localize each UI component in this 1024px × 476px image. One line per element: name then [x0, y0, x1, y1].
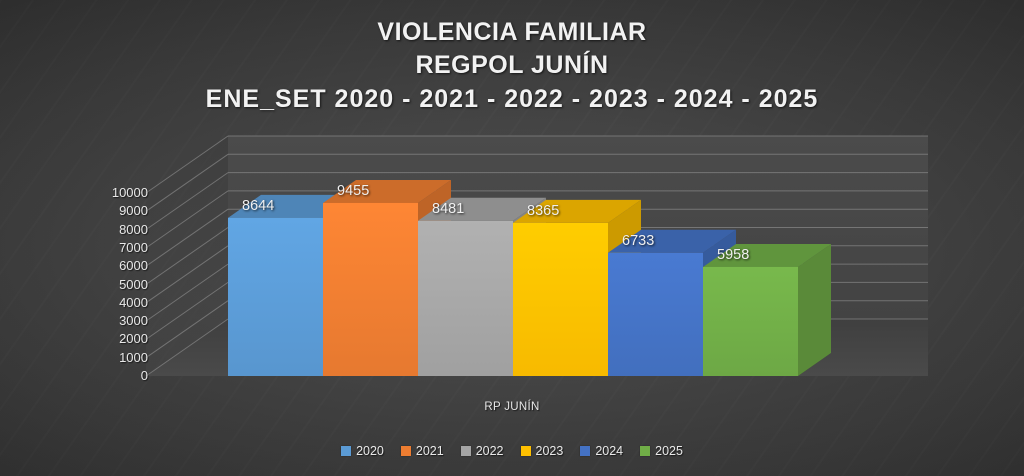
legend-swatch-icon	[580, 446, 590, 456]
y-axis-tick-label: 5000	[38, 277, 148, 292]
legend-item-2020[interactable]: 2020	[341, 444, 384, 458]
legend-item-2022[interactable]: 2022	[461, 444, 504, 458]
legend-swatch-icon	[401, 446, 411, 456]
bar-value-label: 8365	[527, 203, 559, 219]
bar-value-label: 8644	[242, 198, 274, 214]
legend-item-2024[interactable]: 2024	[580, 444, 623, 458]
legend-label: 2023	[536, 444, 564, 458]
y-axis-tick-label: 3000	[38, 313, 148, 328]
bar-value-label: 6733	[622, 233, 654, 249]
legend-label: 2025	[655, 444, 683, 458]
y-axis-tick-label: 4000	[38, 295, 148, 310]
bar-value-label: 5958	[717, 247, 749, 263]
y-axis-tick-label: 1000	[38, 350, 148, 365]
y-axis-tick-label: 9000	[38, 203, 148, 218]
legend-label: 2020	[356, 444, 384, 458]
bar-value-label: 9455	[337, 183, 369, 199]
legend-item-2021[interactable]: 2021	[401, 444, 444, 458]
bar-value-label: 8481	[432, 201, 464, 217]
y-axis-tick-label: 2000	[38, 331, 148, 346]
y-axis-tick-label: 8000	[38, 222, 148, 237]
legend-swatch-icon	[521, 446, 531, 456]
legend-label: 2022	[476, 444, 504, 458]
y-axis-tick-label: 10000	[38, 185, 148, 200]
chart-canvas: VIOLENCIA FAMILIAR REGPOL JUNÍN ENE_SET …	[0, 0, 1024, 476]
legend-item-2023[interactable]: 2023	[521, 444, 564, 458]
legend-swatch-icon	[341, 446, 351, 456]
y-axis-tick-label: 6000	[38, 258, 148, 273]
y-axis-tick-label: 7000	[38, 240, 148, 255]
legend-label: 2024	[595, 444, 623, 458]
chart-legend: 202020212022202320242025	[0, 444, 1024, 458]
legend-label: 2021	[416, 444, 444, 458]
y-axis-tick-label: 0	[38, 368, 148, 383]
legend-swatch-icon	[640, 446, 650, 456]
x-axis-title: RP JUNÍN	[0, 401, 1024, 413]
legend-item-2025[interactable]: 2025	[640, 444, 683, 458]
legend-swatch-icon	[461, 446, 471, 456]
